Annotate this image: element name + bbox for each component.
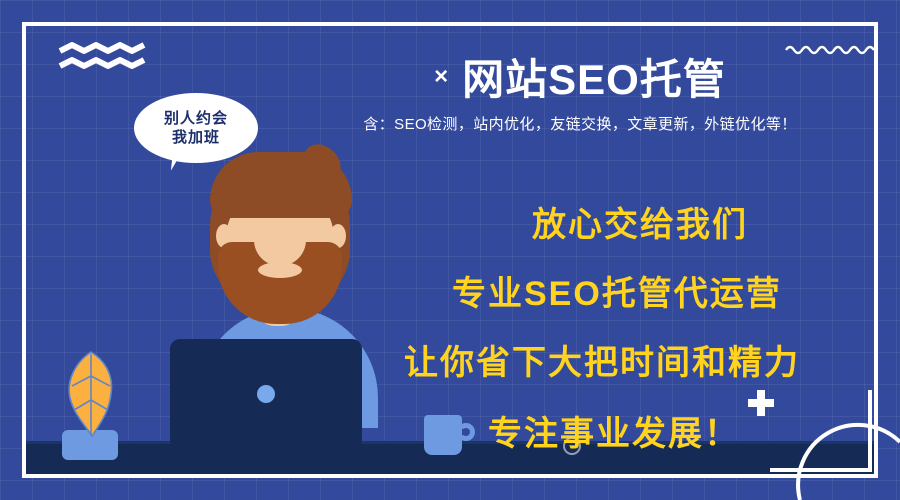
coffee-mug xyxy=(424,415,462,455)
seo-hosting-banner: 别人约会 我加班 × 网站SEO托管 含：SEO检测，站内优化，友链交换，文章更… xyxy=(0,0,900,500)
person-mouth xyxy=(258,262,302,278)
coffee-mug-handle xyxy=(457,423,475,441)
plant-leaf-icon xyxy=(64,350,118,438)
close-x-icon: × xyxy=(434,65,448,89)
selling-point-4: 专注事业发展！ xyxy=(488,406,740,455)
wave-lines-left-icon xyxy=(58,42,150,72)
plus-icon xyxy=(748,390,774,416)
page-title: 网站SEO托管 xyxy=(462,46,726,107)
selling-point-2: 专业SEO托管代运营 xyxy=(452,266,782,315)
speech-bubble-line-2: 我加班 xyxy=(172,128,220,147)
speech-bubble-line-1: 别人约会 xyxy=(164,109,228,128)
headline-row: × 网站SEO托管 xyxy=(340,46,820,107)
selling-point-3: 让你省下大把时间和精力 xyxy=(404,335,800,384)
page-subtitle: 含：SEO检测，站内优化，友链交换，文章更新，外链优化等！ xyxy=(330,113,830,134)
selling-point-1: 放心交给我们 xyxy=(532,197,748,246)
speech-bubble: 别人约会 我加班 xyxy=(134,93,258,163)
laptop-logo-icon xyxy=(257,385,275,403)
